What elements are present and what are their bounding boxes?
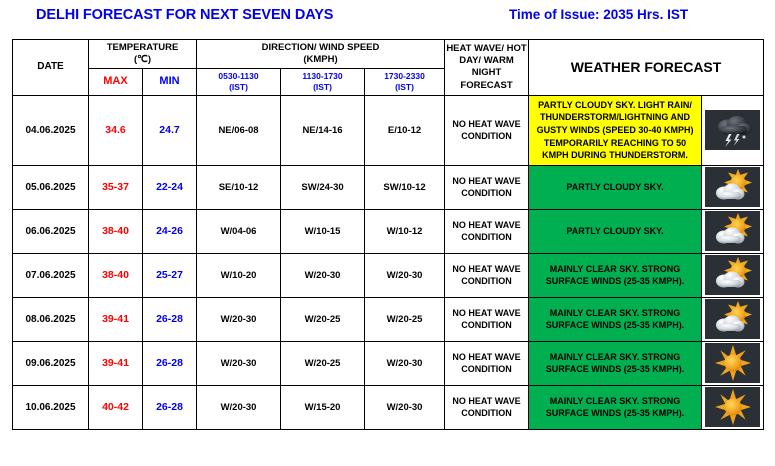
- cell-wind-slot-1: NE/06-08: [197, 95, 281, 165]
- cell-heatwave: NO HEAT WAVE CONDITION: [445, 297, 529, 341]
- header-slot-3-ist: (IST): [395, 82, 414, 92]
- cell-wind-slot-3: W/20-30: [365, 253, 445, 297]
- table-row: 07.06.202538-4025-27W/10-20W/20-30W/20-3…: [13, 253, 764, 297]
- table-row: 06.06.202538-4024-26W/04-06W/10-15W/10-1…: [13, 209, 764, 253]
- thunderstorm-cloud-icon: [705, 110, 760, 150]
- cell-weather-forecast: MAINLY CLEAR SKY. STRONG SURFACE WINDS (…: [529, 297, 702, 341]
- cell-wind-slot-3: E/10-12: [365, 95, 445, 165]
- sun-behind-cloud-icon: [705, 167, 760, 207]
- cell-wind-slot-1: W/20-30: [197, 297, 281, 341]
- forecast-table: DATE TEMPERATURE (℃) DIRECTION/ WIND SPE…: [12, 39, 764, 430]
- cell-wind-slot-3: W/20-30: [365, 341, 445, 385]
- cell-weather-icon: [702, 297, 764, 341]
- cell-weather-forecast: PARTLY CLOUDY SKY. LIGHT RAIN/ THUNDERST…: [529, 95, 702, 165]
- cell-wind-slot-2: W/20-25: [281, 297, 365, 341]
- cell-wind-slot-3: W/20-30: [365, 385, 445, 429]
- cell-min-temp: 26-28: [143, 341, 197, 385]
- header-slot-2: 1130-1730 (IST): [281, 68, 365, 95]
- cell-wind-slot-1: W/10-20: [197, 253, 281, 297]
- cell-wind-slot-1: SE/10-12: [197, 165, 281, 209]
- cell-date: 04.06.2025: [13, 95, 89, 165]
- cell-weather-icon: [702, 165, 764, 209]
- cell-wind-slot-1: W/04-06: [197, 209, 281, 253]
- header-temperature-label: TEMPERATURE: [107, 42, 179, 53]
- cell-wind-slot-2: W/20-25: [281, 341, 365, 385]
- cell-weather-forecast: MAINLY CLEAR SKY. STRONG SURFACE WINDS (…: [529, 341, 702, 385]
- cell-date: 09.06.2025: [13, 341, 89, 385]
- cell-weather-forecast: PARTLY CLOUDY SKY.: [529, 209, 702, 253]
- cell-wind-slot-2: W/10-15: [281, 209, 365, 253]
- cell-date: 08.06.2025: [13, 297, 89, 341]
- cell-min-temp: 22-24: [143, 165, 197, 209]
- cell-heatwave: NO HEAT WAVE CONDITION: [445, 165, 529, 209]
- cell-date: 06.06.2025: [13, 209, 89, 253]
- page-title: DELHI FORECAST FOR NEXT SEVEN DAYS: [36, 7, 333, 23]
- header-min: MIN: [143, 68, 197, 95]
- issue-time-label: Time of Issue: 2035 Hrs. IST: [509, 7, 688, 22]
- cell-wind-slot-1: W/20-30: [197, 385, 281, 429]
- title-bar: DELHI FORECAST FOR NEXT SEVEN DAYS Time …: [0, 7, 775, 29]
- cell-wind-slot-3: W/20-25: [365, 297, 445, 341]
- table-row: 08.06.202539-4126-28W/20-30W/20-25W/20-2…: [13, 297, 764, 341]
- cell-weather-forecast: MAINLY CLEAR SKY. STRONG SURFACE WINDS (…: [529, 385, 702, 429]
- sun-behind-cloud-icon: [705, 299, 760, 339]
- cell-min-temp: 24.7: [143, 95, 197, 165]
- cell-min-temp: 24-26: [143, 209, 197, 253]
- cell-wind-slot-2: SW/24-30: [281, 165, 365, 209]
- cell-max-temp: 38-40: [89, 253, 143, 297]
- cell-weather-icon: [702, 253, 764, 297]
- sun-behind-cloud-icon: [705, 211, 760, 251]
- forecast-page: DELHI FORECAST FOR NEXT SEVEN DAYS Time …: [0, 0, 775, 466]
- cell-weather-icon: [702, 385, 764, 429]
- table-row: 05.06.202535-3722-24SE/10-12SW/24-30SW/1…: [13, 165, 764, 209]
- header-slot-1-range: 0530-1130: [218, 71, 258, 81]
- table-body: 04.06.202534.624.7NE/06-08NE/14-16E/10-1…: [13, 95, 764, 429]
- cell-date: 07.06.2025: [13, 253, 89, 297]
- cell-max-temp: 34.6: [89, 95, 143, 165]
- header-temperature-unit: (℃): [134, 54, 151, 65]
- sun-behind-cloud-icon: [705, 255, 760, 295]
- sun-icon: [705, 343, 760, 383]
- cell-wind-slot-1: W/20-30: [197, 341, 281, 385]
- table-head: DATE TEMPERATURE (℃) DIRECTION/ WIND SPE…: [13, 40, 764, 96]
- cell-wind-slot-2: W/15-20: [281, 385, 365, 429]
- header-wind: DIRECTION/ WIND SPEED (KMPH): [197, 40, 445, 69]
- header-temperature: TEMPERATURE (℃): [89, 40, 197, 69]
- header-wind-label: DIRECTION/ WIND SPEED: [262, 42, 380, 53]
- header-weather-forecast: WEATHER FORECAST: [529, 40, 764, 96]
- cell-date: 10.06.2025: [13, 385, 89, 429]
- header-slot-2-range: 1130-1730: [302, 71, 342, 81]
- cell-heatwave: NO HEAT WAVE CONDITION: [445, 209, 529, 253]
- header-slot-1-ist: (IST): [229, 82, 248, 92]
- cell-heatwave: NO HEAT WAVE CONDITION: [445, 385, 529, 429]
- cell-wind-slot-2: NE/14-16: [281, 95, 365, 165]
- cell-weather-forecast: PARTLY CLOUDY SKY.: [529, 165, 702, 209]
- cell-max-temp: 35-37: [89, 165, 143, 209]
- header-slot-3: 1730-2330 (IST): [365, 68, 445, 95]
- cell-date: 05.06.2025: [13, 165, 89, 209]
- header-row-top: DATE TEMPERATURE (℃) DIRECTION/ WIND SPE…: [13, 40, 764, 69]
- header-heatwave: HEAT WAVE/ HOT DAY/ WARM NIGHT FORECAST: [445, 40, 529, 96]
- cell-wind-slot-3: SW/10-12: [365, 165, 445, 209]
- cell-max-temp: 40-42: [89, 385, 143, 429]
- cell-heatwave: NO HEAT WAVE CONDITION: [445, 341, 529, 385]
- table-row: 10.06.202540-4226-28W/20-30W/15-20W/20-3…: [13, 385, 764, 429]
- cell-min-temp: 26-28: [143, 385, 197, 429]
- header-max: MAX: [89, 68, 143, 95]
- header-slot-1: 0530-1130 (IST): [197, 68, 281, 95]
- cell-weather-forecast: MAINLY CLEAR SKY. STRONG SURFACE WINDS (…: [529, 253, 702, 297]
- table-row: 04.06.202534.624.7NE/06-08NE/14-16E/10-1…: [13, 95, 764, 165]
- header-slot-3-range: 1730-2330: [384, 71, 425, 81]
- cell-wind-slot-3: W/10-12: [365, 209, 445, 253]
- header-date: DATE: [13, 40, 89, 96]
- header-slot-2-ist: (IST): [313, 82, 332, 92]
- cell-max-temp: 38-40: [89, 209, 143, 253]
- cell-heatwave: NO HEAT WAVE CONDITION: [445, 95, 529, 165]
- header-wind-unit: (KMPH): [303, 54, 337, 65]
- cell-max-temp: 39-41: [89, 297, 143, 341]
- cell-weather-icon: [702, 341, 764, 385]
- cell-max-temp: 39-41: [89, 341, 143, 385]
- cell-weather-icon: [702, 95, 764, 165]
- cell-min-temp: 26-28: [143, 297, 197, 341]
- cell-min-temp: 25-27: [143, 253, 197, 297]
- table-row: 09.06.202539-4126-28W/20-30W/20-25W/20-3…: [13, 341, 764, 385]
- cell-weather-icon: [702, 209, 764, 253]
- sun-icon: [705, 387, 760, 427]
- cell-heatwave: NO HEAT WAVE CONDITION: [445, 253, 529, 297]
- cell-wind-slot-2: W/20-30: [281, 253, 365, 297]
